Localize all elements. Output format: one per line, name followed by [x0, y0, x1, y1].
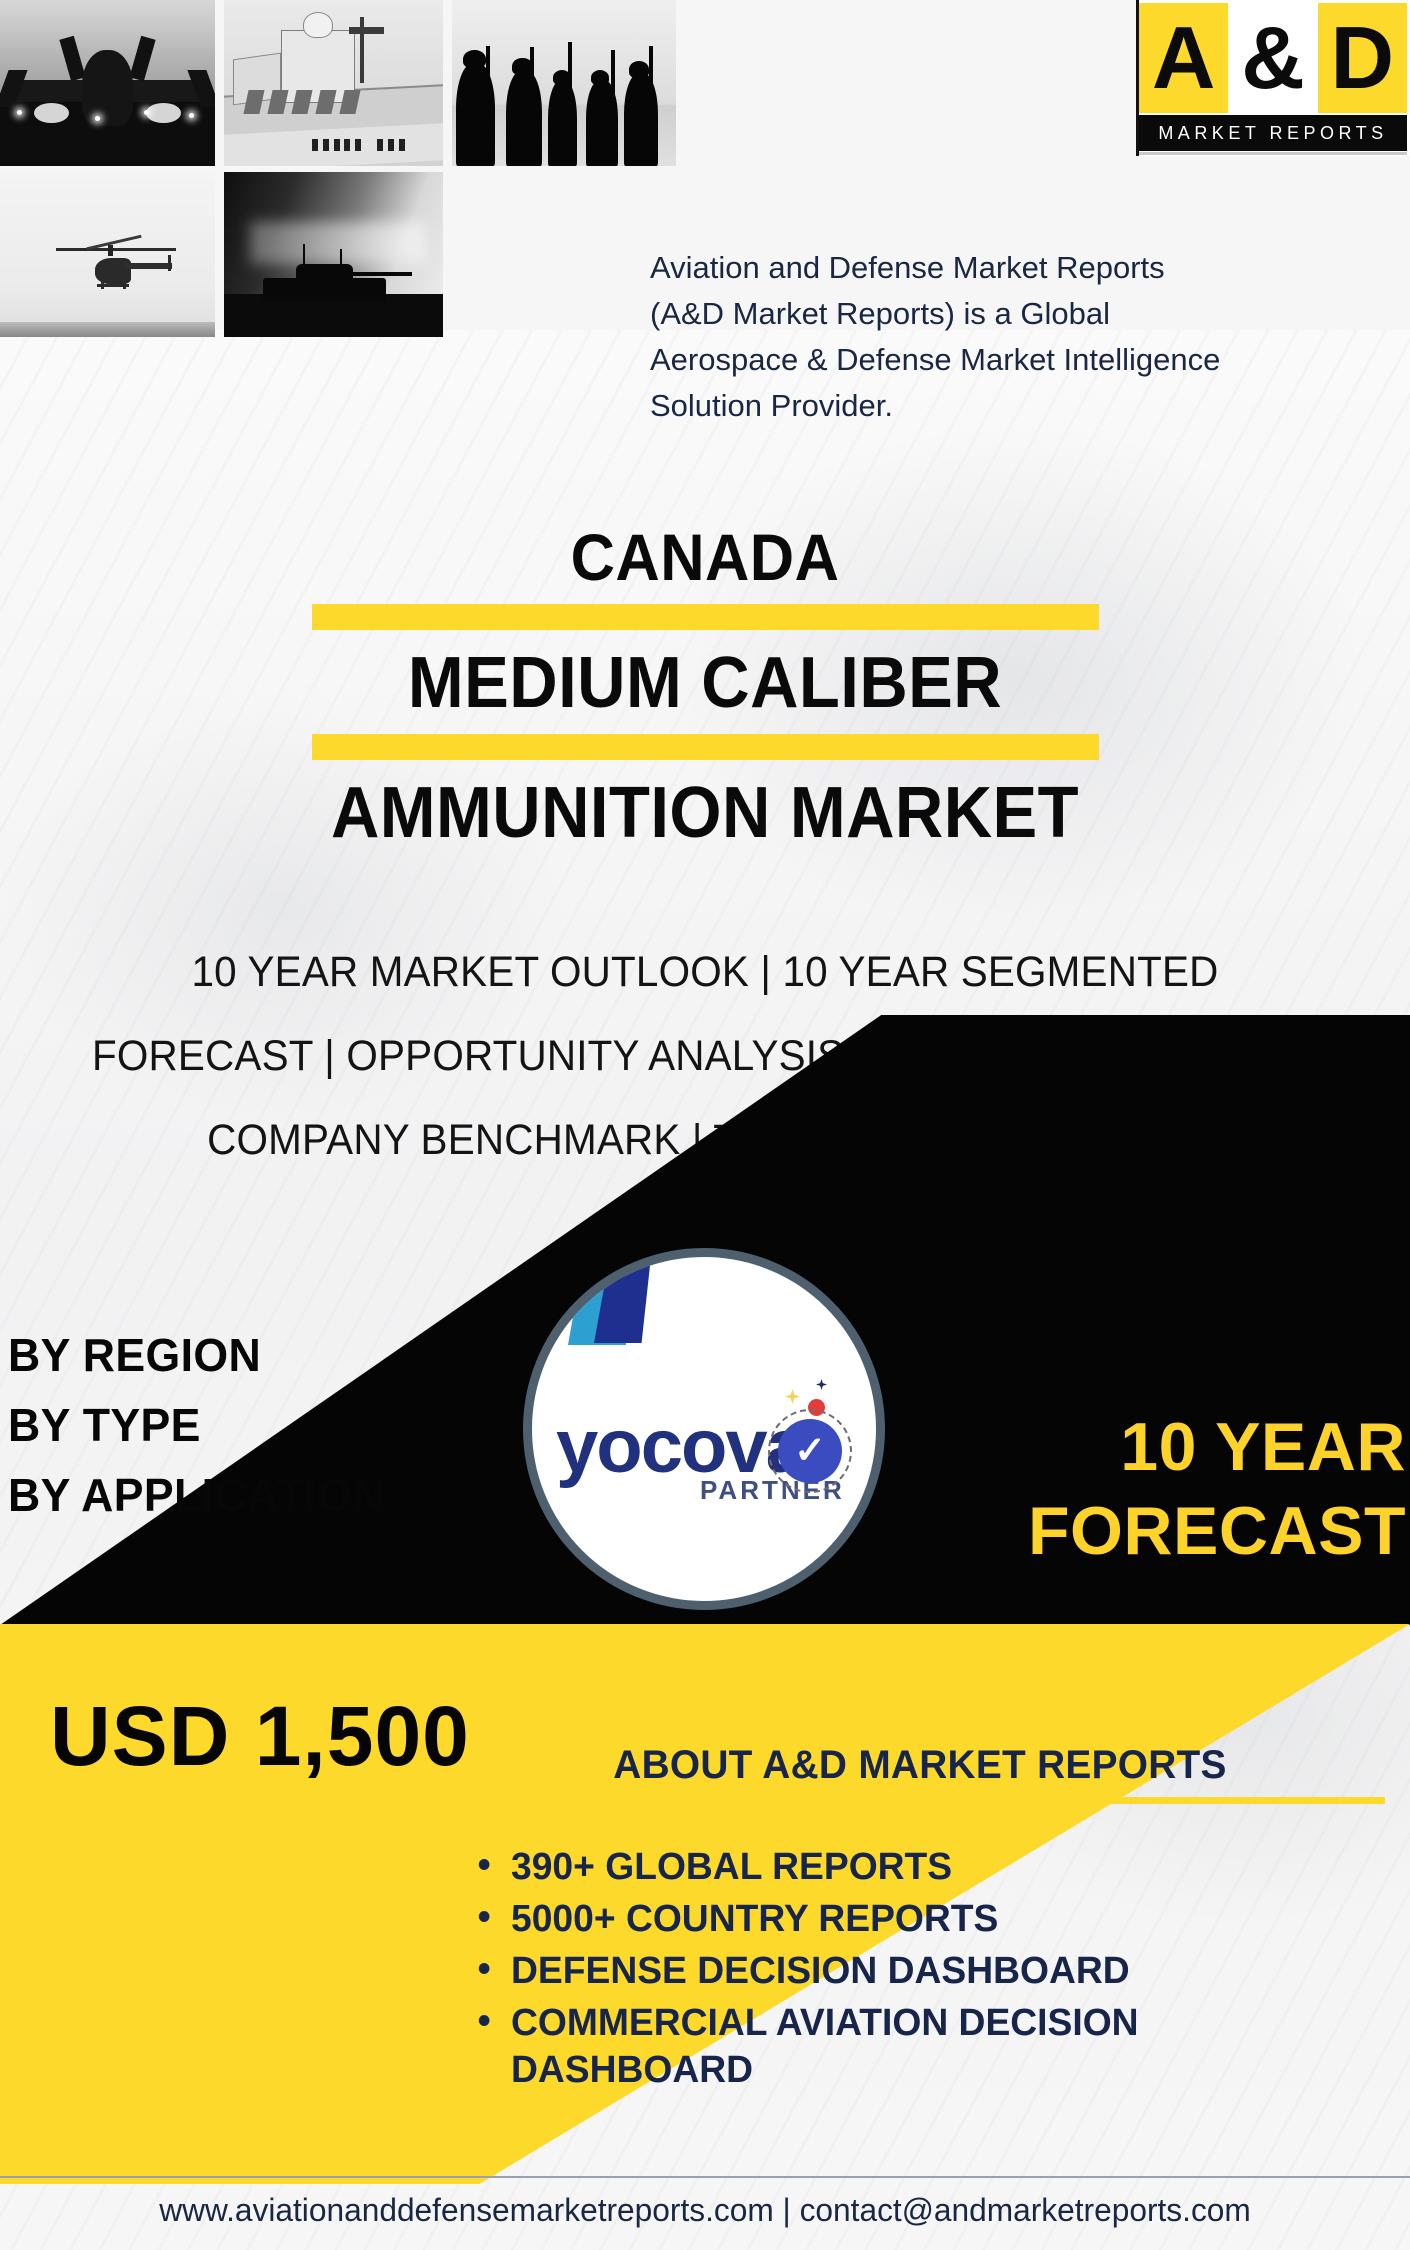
intro-line-4: Solution Provider. [650, 383, 1390, 429]
segment-list: BY REGION BY TYPE BY APPLICATION [8, 1320, 528, 1530]
intro-line-2: (A&D Market Reports) is a Global [650, 291, 1390, 337]
forecast-line-2: FORECAST [846, 1489, 1406, 1573]
title-divider-bar-top [312, 604, 1099, 630]
about-heading-underline [455, 1797, 1385, 1804]
title-line-market: AMMUNITION MARKET [49, 772, 1360, 854]
price-value: USD 1,500 [50, 1690, 470, 1782]
navy-star-icon [816, 1379, 827, 1390]
about-bullet-item: 390+ GLOBAL REPORTS [511, 1844, 1368, 1891]
poster-canvas: A & D MARKET REPORTS Aviation and Defens… [0, 0, 1410, 2250]
logo-letter-d-cell: D [1318, 3, 1407, 113]
about-bullet-item: COMMERCIAL AVIATION DECISION DASHBOARD [511, 2000, 1368, 2094]
intro-line-3: Aerospace & Defense Market Intelligence [650, 337, 1390, 383]
report-title: CANADA MEDIUM CALIBER AMMUNITION MARKET [0, 520, 1410, 854]
footer-contact: www.aviationanddefensemarketreports.com … [7, 2188, 1403, 2232]
logo-tagline-bar: MARKET REPORTS [1139, 115, 1407, 151]
segment-item-by-application: BY APPLICATION [8, 1460, 512, 1530]
intro-line-1: Aviation and Defense Market Reports [650, 245, 1390, 291]
about-bullet-item: DEFENSE DECISION DASHBOARD [511, 1948, 1368, 1995]
photo-grid [0, 0, 676, 340]
check-glyph: ✓ [794, 1432, 826, 1470]
forecast-line-1: 10 YEAR [846, 1405, 1406, 1489]
logo-letter-ampersand: & [1241, 14, 1305, 102]
logo-letter-d: D [1331, 14, 1395, 102]
logo-tagline: MARKET REPORTS [1158, 123, 1387, 144]
logo-bottom-rule [1139, 152, 1407, 155]
segment-item-by-region: BY REGION [8, 1320, 512, 1390]
logo-letter-a: A [1152, 14, 1216, 102]
photo-armored-vehicle [224, 172, 443, 337]
photo-naval-warship [224, 0, 443, 166]
about-bullet-item: 5000+ COUNTRY REPORTS [511, 1896, 1368, 1943]
footer-divider [0, 2176, 1410, 2178]
logo-letter-a-cell: A [1139, 3, 1228, 113]
title-divider-bar-bottom [312, 734, 1099, 760]
yocova-partner-badge: yocova PARTNER ✓ [523, 1248, 885, 1610]
photo-fighter-jet-on-carrier [0, 0, 215, 166]
title-line-category: MEDIUM CALIBER [49, 642, 1360, 724]
photo-military-helicopter [0, 172, 215, 337]
brand-logo: A & D MARKET REPORTS [1136, 0, 1410, 156]
about-section: ABOUT A&D MARKET REPORTS 390+ GLOBAL REP… [455, 1740, 1385, 2099]
yellow-star-icon [785, 1389, 800, 1404]
about-heading: ABOUT A&D MARKET REPORTS [469, 1740, 1371, 1790]
logo-letter-amp-cell: & [1228, 3, 1317, 113]
photo-soldiers-silhouette [452, 0, 676, 166]
title-line-country: CANADA [49, 520, 1360, 594]
segment-item-by-type: BY TYPE [8, 1390, 512, 1460]
forecast-callout: 10 YEAR FORECAST [846, 1405, 1406, 1573]
about-bullet-list: 390+ GLOBAL REPORTS 5000+ COUNTRY REPORT… [455, 1844, 1385, 2094]
company-intro: Aviation and Defense Market Reports (A&D… [650, 245, 1390, 429]
verified-seal-icon: ✓ [768, 1409, 852, 1493]
